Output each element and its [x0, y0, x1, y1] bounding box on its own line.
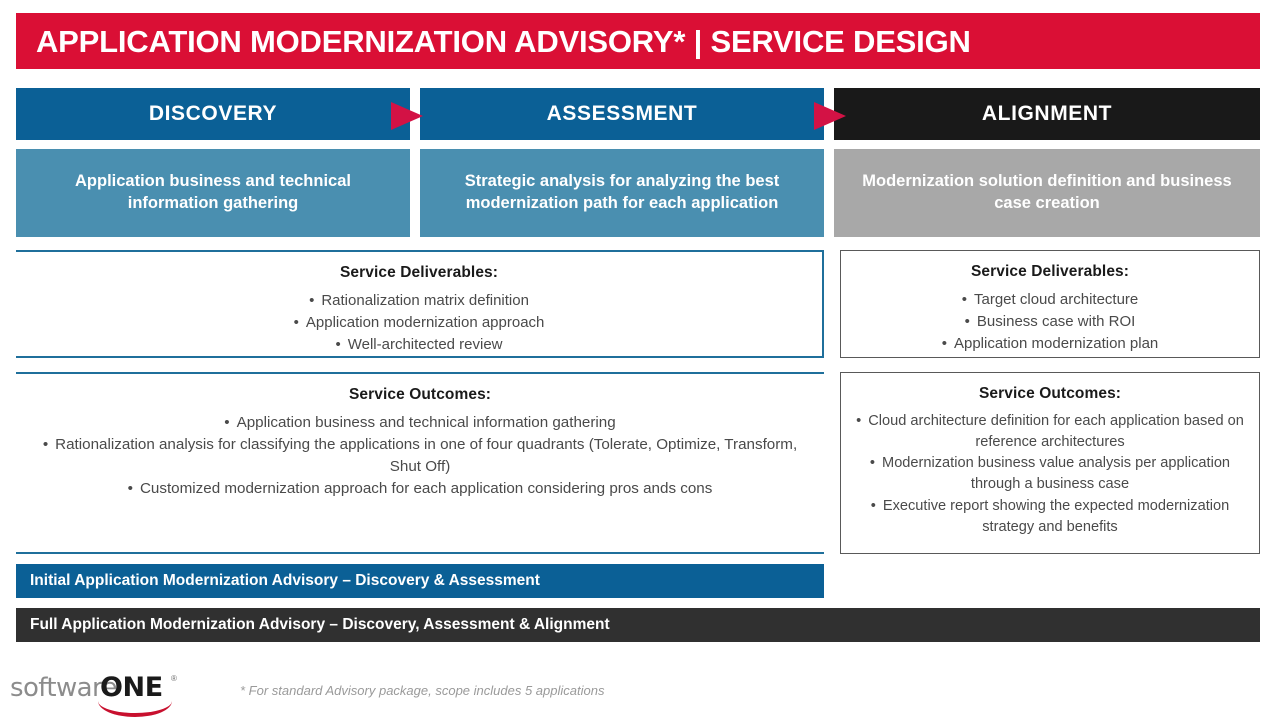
arrow-right-icon-assessment-to-alignment [814, 102, 846, 130]
package-bar-initial: Initial Application Modernization Adviso… [16, 564, 824, 598]
phase-header-discovery-label: DISCOVERY [149, 102, 277, 126]
slide-root: APPLICATION MODERNIZATION ADVISORY* | SE… [0, 0, 1280, 720]
list-item: Business case with ROI [841, 311, 1259, 333]
package-bar-full: Full Application Modernization Advisory … [16, 608, 1260, 642]
list-item: Customized modernization approach for ea… [16, 478, 824, 500]
list-item: Application modernization plan [841, 333, 1259, 355]
list-item: Executive report showing the expected mo… [841, 496, 1259, 538]
phase-description-alignment-text: Modernization solution definition and bu… [846, 171, 1248, 215]
right-service-deliverables-box: Service Deliverables: Target cloud archi… [840, 250, 1260, 358]
logo-trademark-icon: ® [171, 674, 177, 683]
phase-header-discovery: DISCOVERY [16, 88, 410, 140]
list-item: Application business and technical infor… [16, 412, 824, 434]
right-outcomes-list: Cloud architecture definition for each a… [841, 411, 1259, 538]
phase-description-alignment: Modernization solution definition and bu… [834, 149, 1260, 237]
list-item: Rationalization analysis for classifying… [16, 434, 824, 478]
phase-description-assessment: Strategic analysis for analyzing the bes… [420, 149, 824, 237]
phase-header-alignment-label: ALIGNMENT [982, 102, 1112, 126]
phase-header-assessment-label: ASSESSMENT [547, 102, 698, 126]
phase-description-assessment-text: Strategic analysis for analyzing the bes… [432, 171, 812, 215]
list-item: Application modernization approach [16, 312, 822, 334]
phase-description-discovery-text: Application business and technical infor… [28, 171, 398, 215]
left-deliverables-list: Rationalization matrix definition Applic… [16, 290, 822, 355]
package-bar-initial-label: Initial Application Modernization Adviso… [30, 572, 540, 590]
right-deliverables-heading: Service Deliverables: [841, 263, 1259, 281]
left-outcomes-list: Application business and technical infor… [16, 412, 824, 500]
right-deliverables-list: Target cloud architecture Business case … [841, 289, 1259, 354]
softwareone-logo: software ONE ® [10, 673, 180, 711]
page-title: APPLICATION MODERNIZATION ADVISORY* | SE… [36, 26, 971, 57]
arrow-right-icon-discovery-to-assessment [391, 102, 423, 130]
phase-header-assessment: ASSESSMENT [420, 88, 824, 140]
list-item: Well-architected review [16, 334, 822, 356]
phase-description-discovery: Application business and technical infor… [16, 149, 410, 237]
left-service-deliverables-box: Service Deliverables: Rationalization ma… [16, 250, 824, 358]
right-outcomes-heading: Service Outcomes: [841, 385, 1259, 403]
phase-header-alignment: ALIGNMENT [834, 88, 1260, 140]
list-item: Cloud architecture definition for each a… [841, 411, 1259, 453]
slide-title-bar: APPLICATION MODERNIZATION ADVISORY* | SE… [16, 13, 1260, 69]
list-item: Target cloud architecture [841, 289, 1259, 311]
logo-swoosh-icon [98, 701, 172, 717]
left-deliverables-heading: Service Deliverables: [16, 264, 822, 282]
list-item: Modernization business value analysis pe… [841, 453, 1259, 495]
left-service-outcomes-box: Service Outcomes: Application business a… [16, 372, 824, 554]
right-service-outcomes-box: Service Outcomes: Cloud architecture def… [840, 372, 1260, 554]
left-outcomes-heading: Service Outcomes: [16, 386, 824, 404]
footnote-text: * For standard Advisory package, scope i… [240, 683, 604, 698]
logo-word-one: ONE [100, 672, 163, 703]
list-item: Rationalization matrix definition [16, 290, 822, 312]
package-bar-full-label: Full Application Modernization Advisory … [30, 616, 610, 634]
